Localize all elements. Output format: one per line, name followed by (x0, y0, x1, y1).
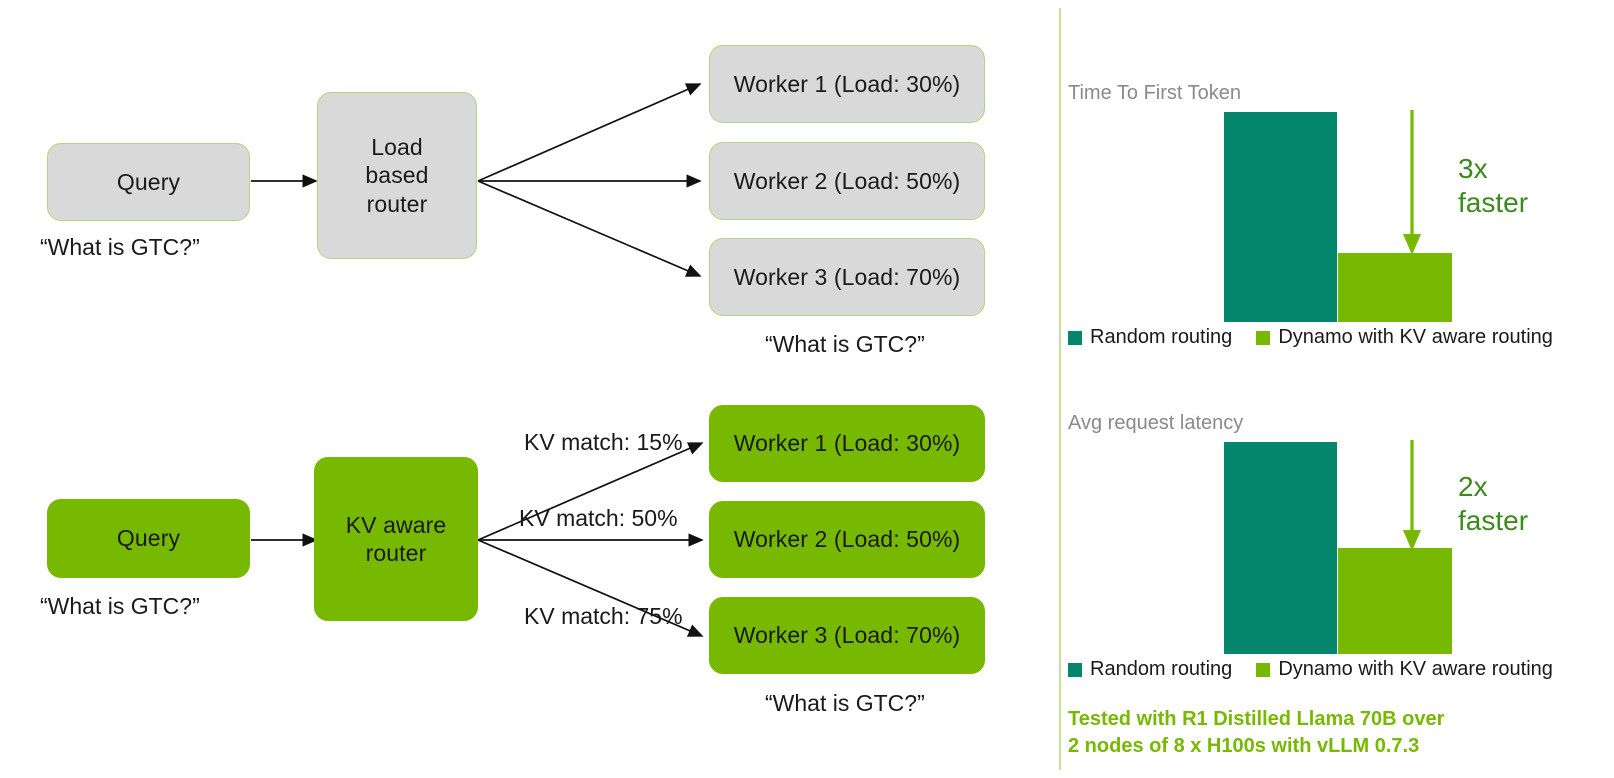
bottom-query-caption: “What is GTC?” (40, 593, 200, 620)
slide-root: Query “What is GTC?” Load based router W… (0, 0, 1614, 778)
kv-match-label-2: KV match: 50% (519, 505, 678, 532)
top-worker-3-box[interactable]: Worker 3 (Load: 70%) (709, 238, 985, 316)
kv-match-label-3: KV match: 75% (524, 603, 683, 630)
ttft-chart-title: Time To First Token (1068, 82, 1241, 105)
bottom-worker-3-label: Worker 3 (Load: 70%) (734, 621, 961, 649)
latency-legend: Random routing Dynamo with KV aware rout… (1068, 658, 1553, 681)
latency-legend-item-dynamo: Dynamo with KV aware routing (1256, 658, 1553, 681)
bottom-result-caption: “What is GTC?” (765, 690, 925, 717)
chart-avg-request-latency: Avg request latency 2x faster Random rou… (1060, 330, 1614, 778)
load-based-router-box[interactable]: Load based router (317, 92, 477, 259)
top-query-caption: “What is GTC?” (40, 234, 200, 261)
top-worker-2-label: Worker 2 (Load: 50%) (734, 167, 961, 195)
latency-legend-item-random: Random routing (1068, 658, 1232, 681)
ttft-bar-dynamo-kv-routing[interactable] (1338, 253, 1452, 322)
kv-aware-router-box[interactable]: KV aware router (314, 457, 478, 621)
ttft-callout: 3x faster (1458, 152, 1528, 219)
latency-legend-label-dynamo: Dynamo with KV aware routing (1278, 658, 1553, 681)
top-worker-2-box[interactable]: Worker 2 (Load: 50%) (709, 142, 985, 220)
benchmark-charts-panel: Time To First Token 3x faster Random rou… (1060, 0, 1614, 778)
bottom-worker-1-label: Worker 1 (Load: 30%) (734, 429, 961, 457)
top-query-box[interactable]: Query (47, 143, 250, 221)
latency-callout: 2x faster (1458, 470, 1528, 537)
bottom-worker-3-box[interactable]: Worker 3 (Load: 70%) (709, 597, 985, 674)
bottom-worker-2-box[interactable]: Worker 2 (Load: 50%) (709, 501, 985, 578)
teal-swatch-icon (1068, 663, 1082, 677)
top-query-label: Query (117, 168, 180, 196)
bottom-query-box[interactable]: Query (47, 499, 250, 578)
top-worker-3-label: Worker 3 (Load: 70%) (734, 263, 961, 291)
bottom-worker-2-label: Worker 2 (Load: 50%) (734, 525, 961, 553)
latency-bar-dynamo-kv-routing[interactable] (1338, 548, 1452, 654)
bottom-worker-1-box[interactable]: Worker 1 (Load: 30%) (709, 405, 985, 482)
load-based-router-label: Load based router (365, 133, 428, 217)
top-worker-1-box[interactable]: Worker 1 (Load: 30%) (709, 45, 985, 123)
routing-diagram-panel: Query “What is GTC?” Load based router W… (0, 0, 1060, 778)
top-result-caption: “What is GTC?” (765, 331, 925, 358)
kv-match-label-1: KV match: 15% (524, 429, 683, 456)
benchmark-footnote: Tested with R1 Distilled Llama 70B over … (1068, 706, 1444, 760)
top-worker-1-label: Worker 1 (Load: 30%) (734, 70, 961, 98)
latency-bar-random-routing[interactable] (1224, 442, 1337, 654)
green-swatch-icon (1256, 663, 1270, 677)
latency-chart-title: Avg request latency (1068, 412, 1243, 435)
kv-aware-router-label: KV aware router (346, 511, 447, 567)
bottom-query-label: Query (117, 524, 180, 552)
latency-legend-label-random: Random routing (1090, 658, 1232, 681)
ttft-bar-random-routing[interactable] (1224, 112, 1337, 322)
chart-time-to-first-token: Time To First Token 3x faster Random rou… (1060, 0, 1614, 370)
